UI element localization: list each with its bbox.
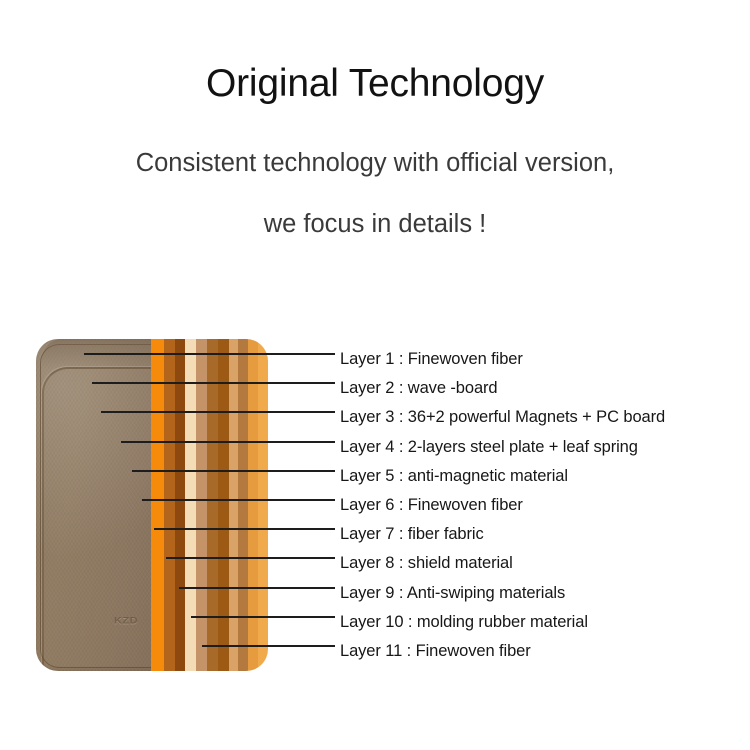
layer-stripe-band — [151, 339, 268, 671]
layer-label-list: Layer 1 : Finewoven fiberLayer 2 : wave … — [340, 345, 740, 666]
layer-stripe-10 — [248, 339, 258, 671]
layer-label-text: Layer 11 : Finewoven fiber — [340, 642, 531, 661]
layer-label-text: Layer 5 : anti-magnetic material — [340, 467, 568, 486]
layer-label-5: Layer 5 : anti-magnetic material — [340, 462, 740, 491]
layer-stripe-3 — [175, 339, 186, 671]
subtitle-line-1: Consistent technology with official vers… — [0, 149, 750, 177]
layer-label-7: Layer 7 : fiber fabric — [340, 520, 740, 549]
layer-label-8: Layer 8 : shield material — [340, 549, 740, 578]
layer-label-text: Layer 6 : Finewoven fiber — [340, 496, 523, 515]
layer-label-text: Layer 1 : Finewoven fiber — [340, 350, 523, 369]
page-title: Original Technology — [0, 62, 750, 106]
layer-stripe-11 — [258, 339, 268, 671]
layer-label-text: Layer 8 : shield material — [340, 554, 513, 573]
layer-label-text: Layer 10 : molding rubber material — [340, 613, 588, 632]
heading-block: Original Technology Consistent technolog… — [0, 62, 750, 238]
layer-stripe-7 — [218, 339, 229, 671]
subtitle-line-2: we focus in details ! — [0, 210, 750, 238]
layer-label-1: Layer 1 : Finewoven fiber — [340, 345, 740, 374]
product-illustration: KZD — [36, 339, 268, 671]
layer-label-text: Layer 3 : 36+2 powerful Magnets + PC boa… — [340, 408, 665, 427]
layer-stripe-6 — [207, 339, 218, 671]
layer-stripe-1 — [151, 339, 164, 671]
layer-label-4: Layer 4 : 2-layers steel plate + leaf sp… — [340, 433, 740, 462]
layer-label-10: Layer 10 : molding rubber material — [340, 608, 740, 637]
brand-logo-emboss: KZD — [114, 616, 138, 626]
layer-stripe-4 — [185, 339, 196, 671]
layer-label-text: Layer 9 : Anti-swiping materials — [340, 584, 565, 603]
layer-label-2: Layer 2 : wave -board — [340, 374, 740, 403]
product-infographic: Original Technology Consistent technolog… — [0, 0, 750, 750]
layer-stripe-9 — [238, 339, 248, 671]
layer-label-text: Layer 4 : 2-layers steel plate + leaf sp… — [340, 438, 638, 457]
layer-stripe-5 — [196, 339, 207, 671]
layer-label-6: Layer 6 : Finewoven fiber — [340, 491, 740, 520]
layer-label-9: Layer 9 : Anti-swiping materials — [340, 579, 740, 608]
layer-label-3: Layer 3 : 36+2 powerful Magnets + PC boa… — [340, 403, 740, 432]
layer-label-text: Layer 2 : wave -board — [340, 379, 498, 398]
layer-stripe-8 — [229, 339, 239, 671]
layer-label-text: Layer 7 : fiber fabric — [340, 525, 484, 544]
layer-stripe-2 — [164, 339, 175, 671]
layer-label-11: Layer 11 : Finewoven fiber — [340, 637, 740, 666]
